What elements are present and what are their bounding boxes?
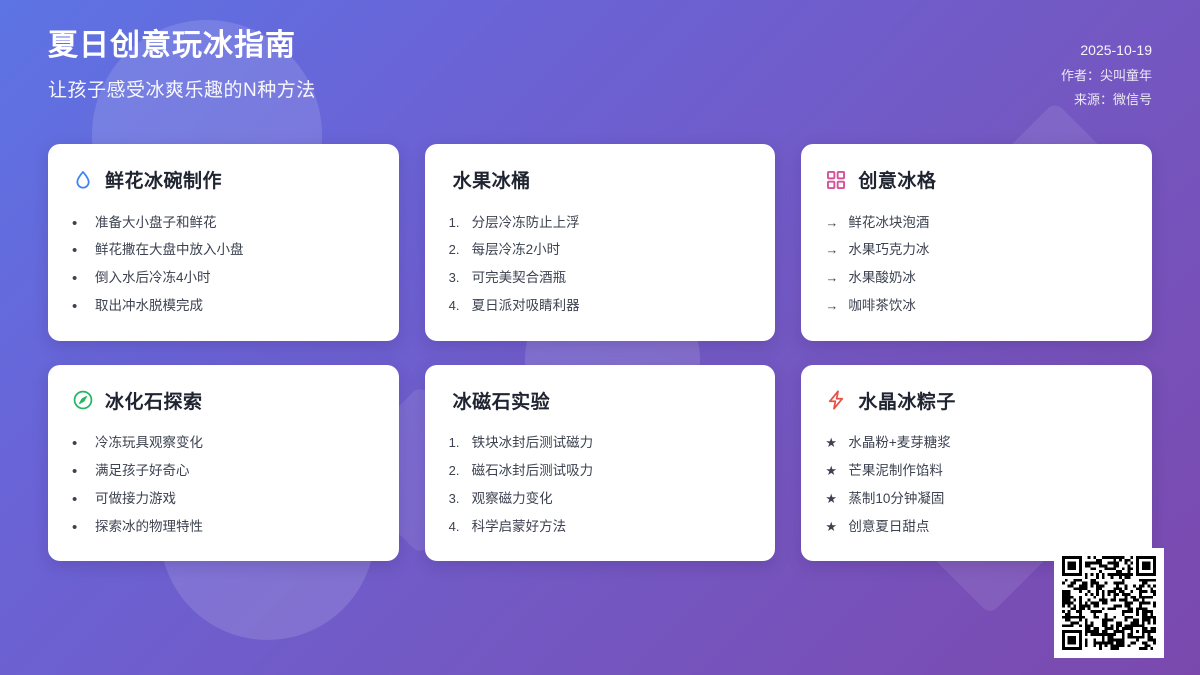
- list-item: 1.分层冷冻防止上浮: [449, 209, 752, 237]
- list-item-text: 芒果泥制作馅料: [848, 461, 943, 482]
- header-meta-block: 2025-10-19 作者：尖叫童年 来源：微信号: [1061, 26, 1152, 112]
- header-title-block: 夏日创意玩冰指南 让孩子感受冰爽乐趣的N种方法: [48, 26, 316, 102]
- list-item: 3.观察磁力变化: [449, 486, 752, 514]
- list-marker: ★: [825, 489, 839, 509]
- card-header: 鲜花冰碗制作: [72, 166, 375, 193]
- list-item-text: 可完美契合酒瓶: [472, 268, 567, 289]
- list-item-text: 创意夏日甜点: [848, 517, 929, 538]
- list-item-text: 准备大小盘子和鲜花: [95, 213, 217, 234]
- card-list: 1.铁块冰封后测试磁力2.磁石冰封后测试吸力3.观察磁力变化4.科学启蒙好方法: [449, 430, 752, 542]
- list-item-text: 水晶粉+麦芽糖浆: [848, 433, 950, 454]
- list-marker: →: [825, 240, 839, 260]
- list-item-text: 可做接力游戏: [95, 489, 176, 510]
- card-title: 水晶冰粽子: [858, 387, 956, 414]
- list-item-text: 鲜花冰块泡酒: [848, 213, 929, 234]
- list-marker: 3.: [449, 489, 463, 509]
- poster-root: 夏日创意玩冰指南 让孩子感受冰爽乐趣的N种方法 2025-10-19 作者：尖叫…: [0, 0, 1200, 675]
- list-item: ★水晶粉+麦芽糖浆: [825, 430, 1128, 458]
- list-item-text: 夏日派对吸睛利器: [472, 296, 580, 317]
- list-item: •冷冻玩具观察变化: [72, 430, 375, 458]
- list-item: ★创意夏日甜点: [825, 513, 1128, 541]
- list-item: •准备大小盘子和鲜花: [72, 209, 375, 237]
- list-item-text: 观察磁力变化: [472, 489, 553, 510]
- card-header: 创意冰格: [825, 166, 1128, 193]
- card-header: 冰化石探索: [72, 387, 375, 414]
- list-item: ★蒸制10分钟凝固: [825, 486, 1128, 514]
- card-title: 冰磁石实验: [453, 387, 551, 414]
- list-item-text: 取出冲水脱模完成: [95, 296, 203, 317]
- list-item-text: 满足孩子好奇心: [95, 461, 190, 482]
- list-item-text: 水果酸奶冰: [848, 268, 916, 289]
- list-item: 2.每层冷冻2小时: [449, 237, 752, 265]
- list-item-text: 冷冻玩具观察变化: [95, 433, 203, 454]
- list-item: 1.铁块冰封后测试磁力: [449, 430, 752, 458]
- list-item: →水果巧克力冰: [825, 237, 1128, 265]
- list-marker: →: [825, 213, 839, 233]
- card-title: 冰化石探索: [105, 387, 203, 414]
- card-header: 水晶冰粽子: [825, 387, 1128, 414]
- list-item-text: 铁块冰封后测试磁力: [472, 433, 594, 454]
- list-item: 4.夏日派对吸睛利器: [449, 293, 752, 321]
- list-marker: 4.: [449, 517, 463, 537]
- compass-icon: [72, 389, 94, 411]
- content-card: 水果冰桶1.分层冷冻防止上浮2.每层冷冻2小时3.可完美契合酒瓶4.夏日派对吸睛…: [425, 144, 776, 341]
- card-title: 鲜花冰碗制作: [105, 166, 222, 193]
- list-marker: •: [72, 271, 86, 286]
- page-title: 夏日创意玩冰指南: [48, 26, 316, 65]
- content-card: 冰化石探索•冷冻玩具观察变化•满足孩子好奇心•可做接力游戏•探索冰的物理特性: [48, 365, 399, 562]
- list-item: ★芒果泥制作馅料: [825, 458, 1128, 486]
- grid-icon: [825, 169, 847, 191]
- list-marker: •: [72, 436, 86, 451]
- bolt-icon: [825, 389, 847, 411]
- list-item: →咖啡茶饮冰: [825, 293, 1128, 321]
- list-marker: •: [72, 520, 86, 535]
- list-item: →水果酸奶冰: [825, 265, 1128, 293]
- list-marker: •: [72, 464, 86, 479]
- droplet-icon: [72, 169, 94, 191]
- list-item-text: 蒸制10分钟凝固: [848, 489, 944, 510]
- list-item-text: 水果巧克力冰: [848, 240, 929, 261]
- list-item: 4.科学启蒙好方法: [449, 513, 752, 541]
- publish-date: 2025-10-19: [1061, 38, 1152, 64]
- card-title: 创意冰格: [858, 166, 936, 193]
- list-item: •取出冲水脱模完成: [72, 293, 375, 321]
- card-header: 冰磁石实验: [449, 387, 752, 414]
- list-marker: →: [825, 296, 839, 316]
- list-item-text: 每层冷冻2小时: [472, 240, 561, 261]
- list-item-text: 分层冷冻防止上浮: [472, 213, 580, 234]
- qr-code[interactable]: [1062, 556, 1156, 650]
- list-item: 3.可完美契合酒瓶: [449, 265, 752, 293]
- list-item: →鲜花冰块泡酒: [825, 209, 1128, 237]
- card-grid: 鲜花冰碗制作•准备大小盘子和鲜花•鲜花撒在大盘中放入小盘•倒入水后冷冻4小时•取…: [48, 144, 1152, 561]
- page-subtitle: 让孩子感受冰爽乐趣的N种方法: [48, 75, 316, 102]
- list-item: 2.磁石冰封后测试吸力: [449, 458, 752, 486]
- list-marker: ★: [825, 517, 839, 537]
- list-item-text: 咖啡茶饮冰: [848, 296, 916, 317]
- list-marker: 2.: [449, 240, 463, 260]
- list-marker: 4.: [449, 296, 463, 316]
- list-marker: 2.: [449, 461, 463, 481]
- list-item-text: 倒入水后冷冻4小时: [95, 268, 211, 289]
- card-list: →鲜花冰块泡酒→水果巧克力冰→水果酸奶冰→咖啡茶饮冰: [825, 209, 1128, 321]
- list-item-text: 鲜花撒在大盘中放入小盘: [95, 240, 244, 261]
- list-marker: •: [72, 492, 86, 507]
- qr-code-container[interactable]: [1054, 548, 1164, 658]
- card-title: 水果冰桶: [453, 166, 531, 193]
- card-list: 1.分层冷冻防止上浮2.每层冷冻2小时3.可完美契合酒瓶4.夏日派对吸睛利器: [449, 209, 752, 321]
- content-card: 水晶冰粽子★水晶粉+麦芽糖浆★芒果泥制作馅料★蒸制10分钟凝固★创意夏日甜点: [801, 365, 1152, 562]
- list-item-text: 探索冰的物理特性: [95, 517, 203, 538]
- list-item: •可做接力游戏: [72, 486, 375, 514]
- list-marker: →: [825, 268, 839, 288]
- list-item: •倒入水后冷冻4小时: [72, 265, 375, 293]
- card-header: 水果冰桶: [449, 166, 752, 193]
- list-item-text: 科学启蒙好方法: [472, 517, 567, 538]
- card-list: ★水晶粉+麦芽糖浆★芒果泥制作馅料★蒸制10分钟凝固★创意夏日甜点: [825, 430, 1128, 542]
- list-item: •满足孩子好奇心: [72, 458, 375, 486]
- author-label: 作者：尖叫童年: [1061, 64, 1152, 88]
- list-item: •探索冰的物理特性: [72, 513, 375, 541]
- content-card: 鲜花冰碗制作•准备大小盘子和鲜花•鲜花撒在大盘中放入小盘•倒入水后冷冻4小时•取…: [48, 144, 399, 341]
- list-marker: •: [72, 216, 86, 231]
- list-marker: •: [72, 299, 86, 314]
- list-item: •鲜花撒在大盘中放入小盘: [72, 237, 375, 265]
- card-list: •准备大小盘子和鲜花•鲜花撒在大盘中放入小盘•倒入水后冷冻4小时•取出冲水脱模完…: [72, 209, 375, 321]
- list-marker: ★: [825, 461, 839, 481]
- list-marker: •: [72, 243, 86, 258]
- card-list: •冷冻玩具观察变化•满足孩子好奇心•可做接力游戏•探索冰的物理特性: [72, 430, 375, 542]
- list-marker: ★: [825, 433, 839, 453]
- content-card: 创意冰格→鲜花冰块泡酒→水果巧克力冰→水果酸奶冰→咖啡茶饮冰: [801, 144, 1152, 341]
- list-marker: 3.: [449, 268, 463, 288]
- content-card: 冰磁石实验1.铁块冰封后测试磁力2.磁石冰封后测试吸力3.观察磁力变化4.科学启…: [425, 365, 776, 562]
- list-marker: 1.: [449, 433, 463, 453]
- source-label: 来源：微信号: [1061, 88, 1152, 112]
- poster-header: 夏日创意玩冰指南 让孩子感受冰爽乐趣的N种方法 2025-10-19 作者：尖叫…: [0, 0, 1200, 130]
- list-item-text: 磁石冰封后测试吸力: [472, 461, 594, 482]
- list-marker: 1.: [449, 213, 463, 233]
